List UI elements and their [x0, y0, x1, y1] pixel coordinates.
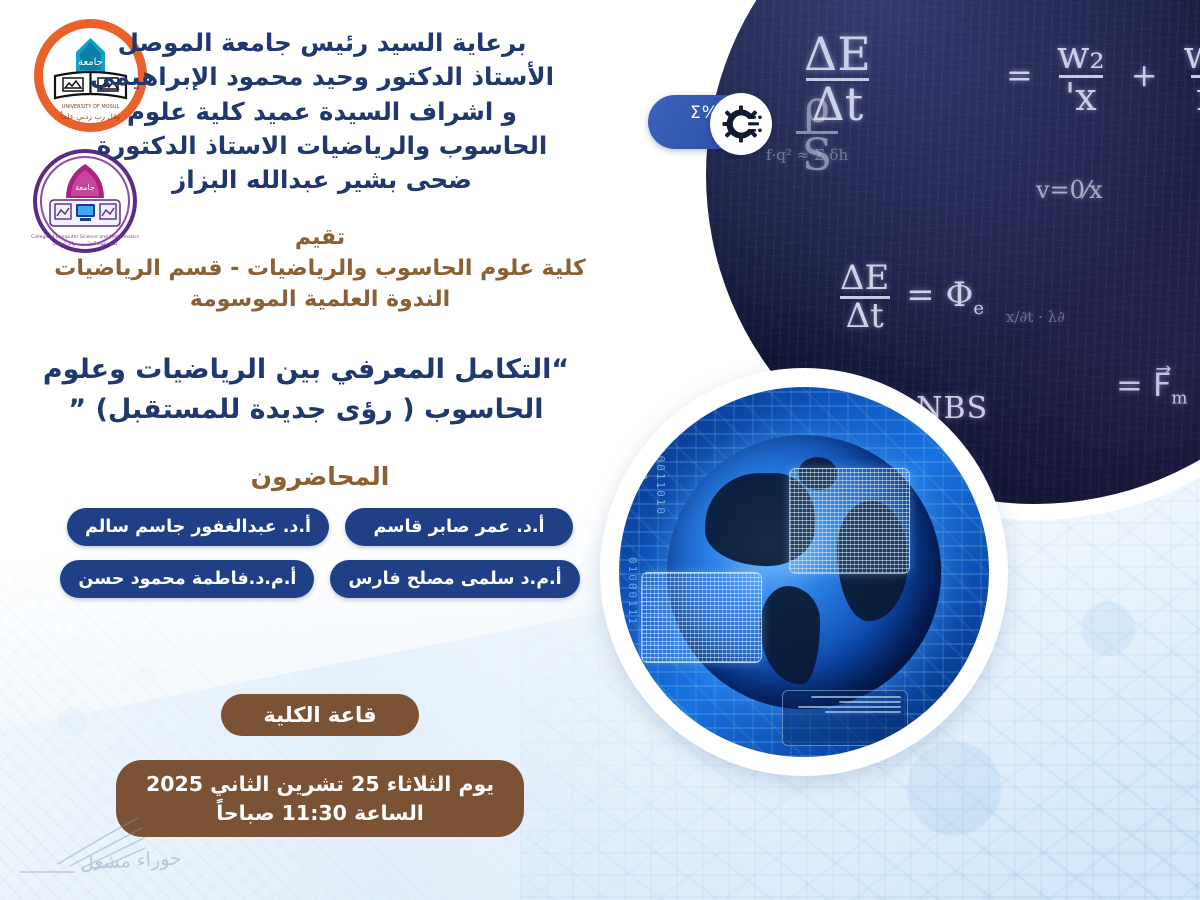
patron-line: برعاية السيد رئيس جامعة الموصل [30, 26, 614, 60]
patron-block: برعاية السيد رئيس جامعة الموصل الأستاذ ا… [0, 26, 640, 197]
lecturer-pill[interactable]: أ.م.د سلمى مصلح فارس [330, 560, 579, 598]
designer-signature: حوراء مشعل [18, 810, 188, 888]
venue-row: قاعة الكلية [0, 694, 640, 736]
lecturer-pill[interactable]: أ.د. عبدالغفور جاسم سالم [67, 508, 329, 546]
gear-chip-icon [710, 93, 772, 155]
data-panel-upper [789, 468, 909, 574]
organizer-line: كلية علوم الحاسوب والرياضيات - قسم الريا… [40, 253, 600, 284]
formula-phi-e: Φe = ΔEΔt [834, 261, 984, 333]
code-snippet-panel [782, 690, 908, 746]
formula-delta-e-delta-t: ΔEΔt [798, 31, 877, 128]
formula-p-over-s: ρS [796, 86, 838, 179]
globe-inner: 01000110 10011010 01000111 [619, 387, 989, 757]
organizer-line: تقيم [40, 222, 600, 253]
lecturer-pill[interactable]: أ.م.د.فاطمة محمود حسن [60, 560, 314, 598]
binary-stream-left-2: 10011010 [653, 447, 667, 516]
formula-v-equals: v=0⁄x [1036, 176, 1102, 204]
formula-w-over-x: w₁x + w₂x' = [1006, 36, 1200, 117]
venue-badge: قاعة الكلية [221, 694, 418, 736]
formula-misc-left: f·q² ≈ Σ δh [766, 146, 848, 164]
datetime-line: يوم الثلاثاء 25 تشرين الثاني 2025 [146, 770, 494, 799]
data-panel-lower [641, 572, 761, 663]
technology-globe-image: 01000110 10011010 01000111 [600, 368, 1008, 776]
seminar-poster: ΔEΔt w₁x + w₂x' = Φe = ΔEΔt Φ= NBS v=0⁄x… [0, 0, 1200, 900]
lecturer-row: أ.د. عبدالغفور جاسم سالم أ.د. عمر صابر ق… [67, 508, 573, 546]
lecturers-heading: المحاضرون [0, 462, 640, 491]
lecturer-pill[interactable]: أ.د. عمر صابر قاسم [345, 508, 573, 546]
patron-line: الأستاذ الدكتور وحيد محمود الإبراهيمي [30, 60, 614, 94]
datetime-line: الساعة 11:30 صباحاً [146, 799, 494, 828]
formula-f-m: F⃗m = [1116, 366, 1188, 408]
lecturer-row: أ.م.د.فاطمة محمود حسن أ.م.د سلمى مصلح فا… [60, 560, 579, 598]
patron-line: ضحى بشير عبدالله البزاز [30, 163, 614, 197]
landmass-south-america [760, 586, 820, 685]
patron-line: الحاسوب والرياضيات الاستاذ الدكتورة [30, 129, 614, 163]
patron-line: و اشراف السيدة عميد كلية علوم [30, 95, 614, 129]
math-gear-badge: %√%Σ ∮∿∫ [648, 95, 768, 149]
organizer-line: الندوة العلمية الموسومة [40, 284, 600, 315]
seminar-title: “التكامل المعرفي بين الرياضيات وعلوم الح… [0, 350, 640, 430]
poster-text-column: برعاية السيد رئيس جامعة الموصل الأستاذ ا… [0, 0, 640, 900]
lecturers-list: أ.د. عبدالغفور جاسم سالم أ.د. عمر صابر ق… [0, 508, 640, 598]
formula-misc-mid: ∂x/∂t · λ [1006, 308, 1065, 326]
organizer-block: تقيم كلية علوم الحاسوب والرياضيات - قسم … [0, 222, 640, 316]
